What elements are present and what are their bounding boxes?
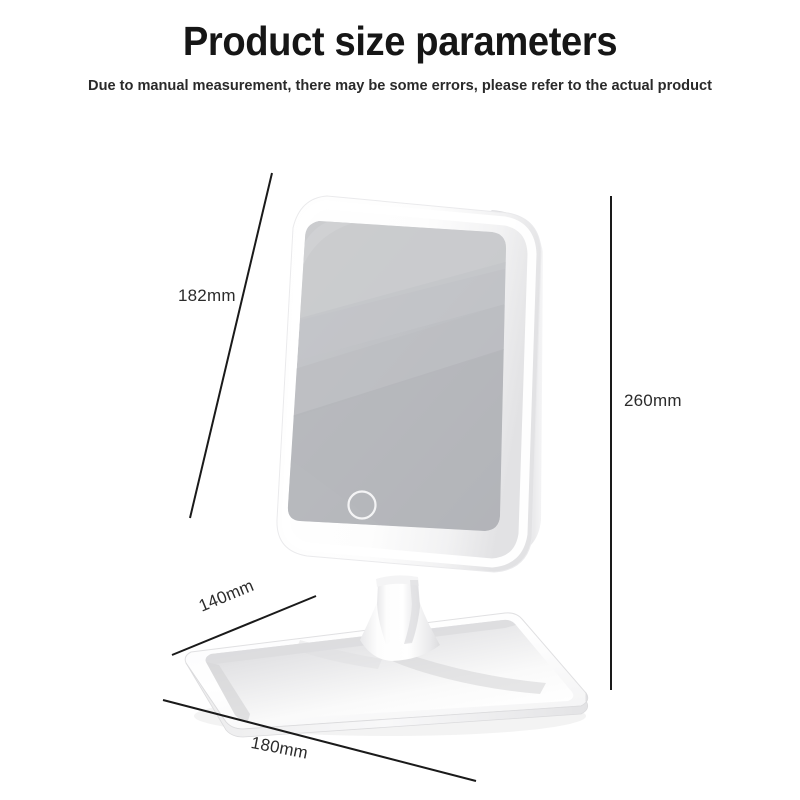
mirror-head bbox=[277, 196, 543, 572]
product-illustration: 182mm 260mm 140mm 180mm bbox=[0, 0, 800, 800]
stem bbox=[360, 575, 440, 661]
mirror-glass bbox=[285, 210, 520, 540]
dimension-label-mirror-height: 182mm bbox=[178, 286, 236, 306]
dimension-label-total-height: 260mm bbox=[624, 391, 682, 411]
product-size-parameters-page: Product size parameters Due to manual me… bbox=[0, 0, 800, 800]
dimension-line-mirror-height bbox=[190, 173, 272, 518]
